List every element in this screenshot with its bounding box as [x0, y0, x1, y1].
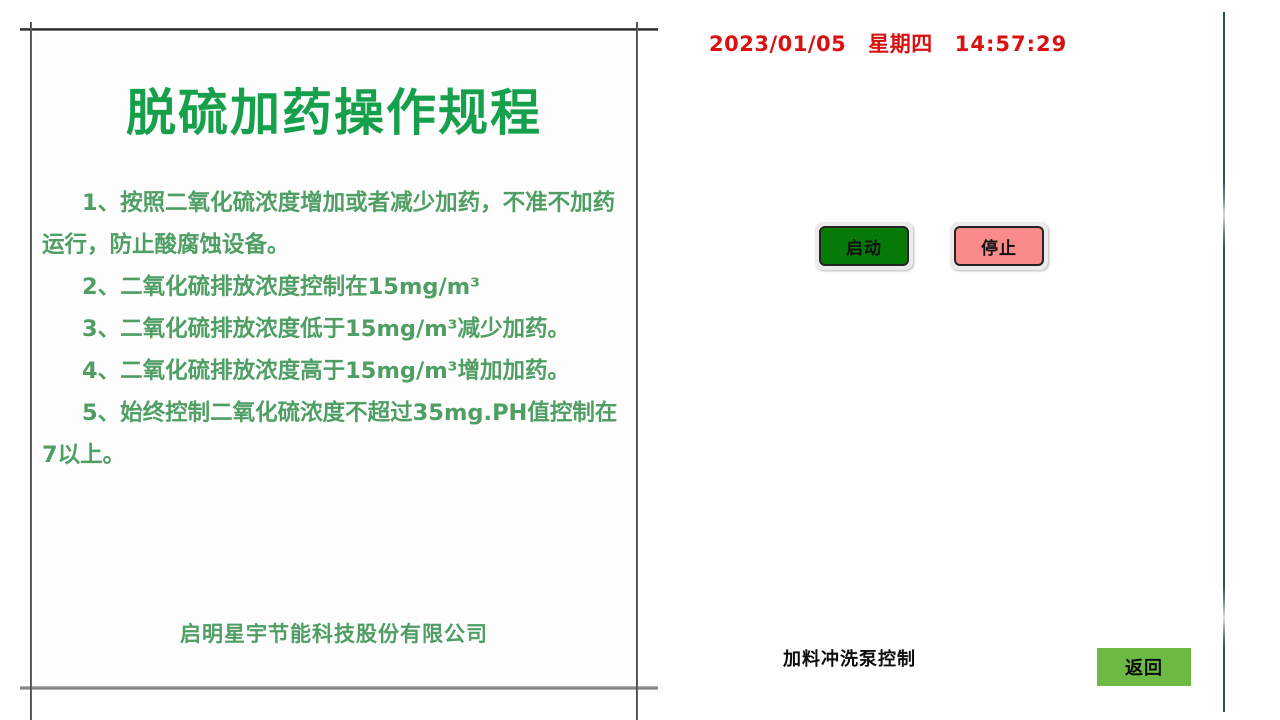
return-button[interactable]: 返回 [1097, 648, 1191, 686]
stop-button-frame: 停止 [950, 222, 1048, 270]
poster-body: 脱硫加药操作规程 1、按照二氧化硫浓度增加或者减少加药，不准不加药运行，防止酸腐… [34, 32, 634, 684]
screen-edge-divider [1223, 12, 1225, 712]
panel-left-border [30, 22, 32, 720]
start-button-frame: 启动 [815, 222, 913, 270]
rule-item-1: 1、按照二氧化硫浓度增加或者减少加药，不准不加药运行，防止酸腐蚀设备。 [34, 182, 634, 266]
hmi-control-panel: 2023/01/05 星期四 14:57:29 启动 停止 加料冲洗泵控制 返回 [680, 0, 1280, 720]
poster-rule-list: 1、按照二氧化硫浓度增加或者减少加药，不准不加药运行，防止酸腐蚀设备。 2、二氧… [34, 182, 634, 476]
panel-right-border [636, 22, 638, 720]
datetime-display: 2023/01/05 星期四 14:57:29 [709, 28, 1067, 58]
time-text: 14:57:29 [955, 32, 1067, 56]
poster-company-name: 启明星宇节能科技股份有限公司 [34, 618, 640, 648]
rule-item-3: 3、二氧化硫排放浓度低于15mg/m³减少加药。 [34, 308, 634, 350]
rule-item-4: 4、二氧化硫排放浓度高于15mg/m³增加加药。 [34, 350, 634, 392]
weekday-text: 星期四 [868, 28, 933, 58]
rule-item-5: 5、始终控制二氧化硫浓度不超过35mg.PH值控制在7以上。 [34, 392, 634, 476]
pump-control-caption: 加料冲洗泵控制 [783, 645, 916, 671]
stop-button[interactable]: 停止 [954, 226, 1044, 266]
panel-top-border [20, 28, 658, 31]
date-text: 2023/01/05 [709, 32, 846, 56]
rule-item-2: 2、二氧化硫排放浓度控制在15mg/m³ [34, 266, 634, 308]
panel-bottom-border [20, 686, 658, 690]
sop-poster-panel: 脱硫加药操作规程 1、按照二氧化硫浓度增加或者减少加药，不准不加药运行，防止酸腐… [0, 0, 680, 720]
start-button[interactable]: 启动 [819, 226, 909, 266]
poster-title: 脱硫加药操作规程 [34, 88, 634, 138]
